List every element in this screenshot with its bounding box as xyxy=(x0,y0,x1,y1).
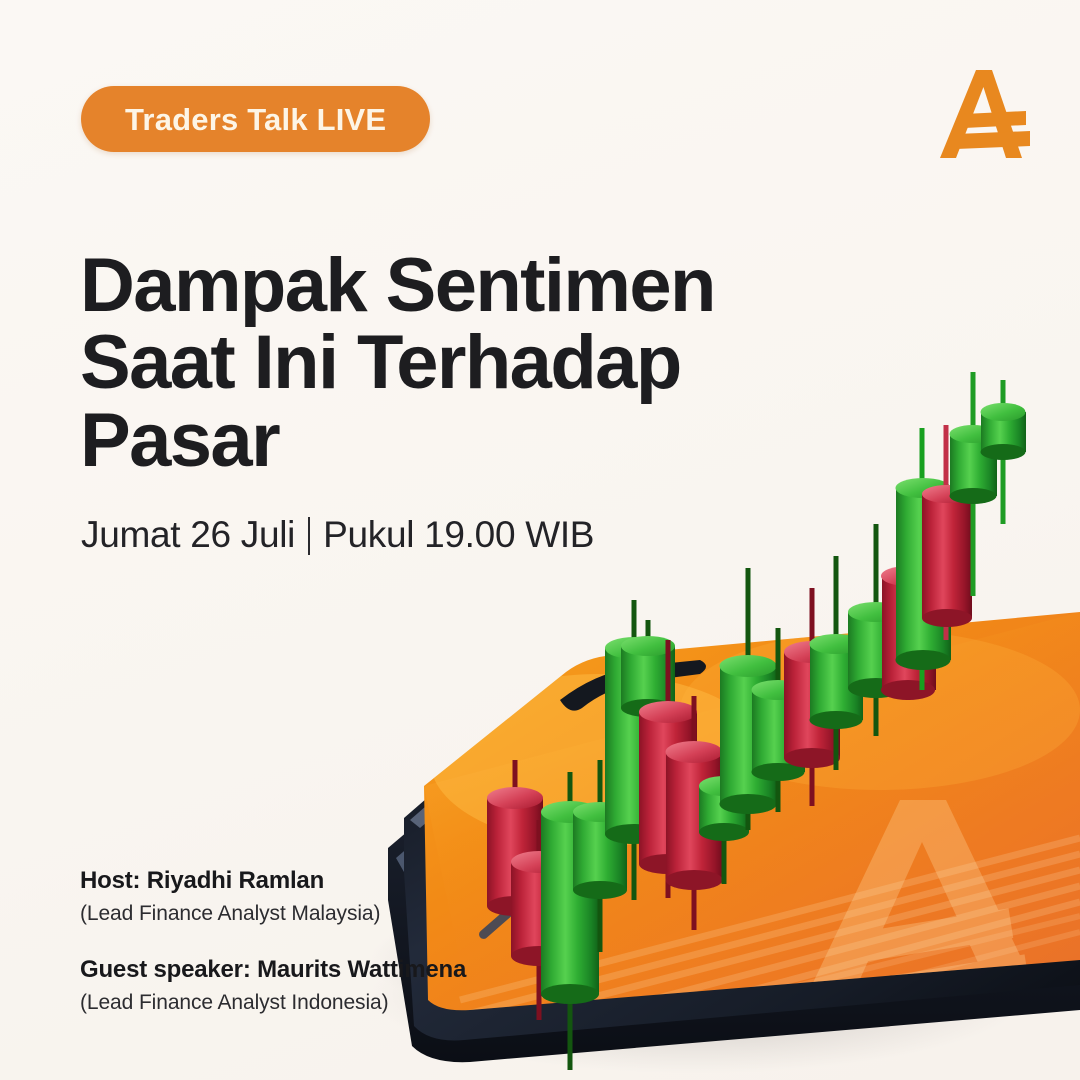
poster-canvas: Traders Talk LIVE Dampak Sentimen Saat I… xyxy=(0,0,1080,1080)
headline-line-3: Pasar xyxy=(80,402,800,480)
headline-line-2: Saat Ini Terhadap xyxy=(80,324,800,402)
candle-11 xyxy=(752,628,806,812)
candle-6 xyxy=(621,620,675,796)
speaker-list: Host: Riyadhi Ramlan (Lead Finance Analy… xyxy=(80,866,550,1017)
speaker-guest-name: Guest speaker: Maurits Wattimena xyxy=(80,955,550,985)
candle-9 xyxy=(699,712,749,884)
headline-line-1: Dampak Sentimen xyxy=(80,247,800,325)
candle-19 xyxy=(981,380,1027,524)
candle-4 xyxy=(573,760,627,952)
candle-14 xyxy=(848,524,904,736)
candle-7 xyxy=(639,640,697,898)
candle-15 xyxy=(881,515,936,700)
live-badge[interactable]: Traders Talk LIVE xyxy=(81,86,430,152)
candle-10 xyxy=(720,568,778,830)
candle-12 xyxy=(784,588,840,806)
speaker-guest: Guest speaker: Maurits Wattimena (Lead F… xyxy=(80,955,550,1016)
candle-17 xyxy=(922,425,972,640)
speaker-host-role: (Lead Finance Analyst Malaysia) xyxy=(80,900,550,927)
candle-18 xyxy=(950,372,998,596)
schedule-date: Jumat 26 Juli xyxy=(81,514,295,556)
candle-8 xyxy=(666,696,724,930)
schedule-separator-icon xyxy=(308,517,310,555)
schedule-line: Jumat 26 Juli Pukul 19.00 WIB xyxy=(81,514,594,556)
candle-13 xyxy=(810,556,864,770)
candle-16 xyxy=(896,428,952,690)
speaker-host-name: Host: Riyadhi Ramlan xyxy=(80,866,550,896)
live-badge-label: Traders Talk LIVE xyxy=(125,104,386,135)
page-title: Dampak Sentimen Saat Ini Terhadap Pasar xyxy=(80,247,800,480)
candle-5 xyxy=(605,600,663,900)
speaker-guest-role: (Lead Finance Analyst Indonesia) xyxy=(80,989,550,1016)
schedule-time: Pukul 19.00 WIB xyxy=(323,514,594,556)
speaker-host: Host: Riyadhi Ramlan (Lead Finance Analy… xyxy=(80,866,550,927)
brand-logo-icon xyxy=(934,62,1036,166)
